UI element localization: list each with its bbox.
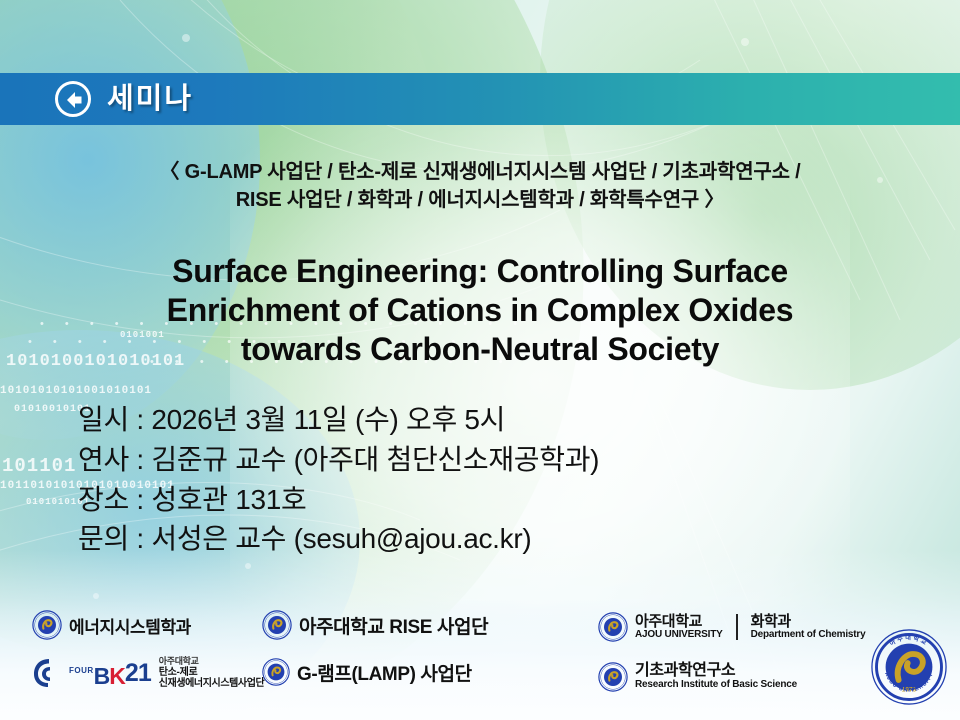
seminar-poster: 1010100101010101101010101010010101010101… — [0, 0, 960, 720]
host-organizations: 〈 G-LAMP 사업단 / 탄소-제로 신재생에너지시스템 사업단 / 기초과… — [0, 158, 960, 215]
logo-energy-system: 에너지시스템학과 — [32, 610, 191, 640]
logo-glamp: G-램프(LAMP) 사업단 — [262, 658, 472, 686]
detail-contact: 문의 : 서성은 교수 (sesuh@ajou.ac.kr) — [78, 519, 599, 559]
host-line-2: RISE 사업단 / 화학과 / 에너지시스템학과 / 화학특수연구 〉 — [0, 186, 960, 214]
bk21-line-1: 아주대학교 — [159, 656, 265, 667]
bk21-four-label: FOUR — [69, 667, 94, 675]
talk-title: Surface Engineering: Controlling Surface… — [28, 252, 932, 369]
bk21-line-2: 탄소-제로 — [159, 667, 265, 679]
seminar-details: 일시 : 2026년 3월 11일 (수) 오후 5시 연사 : 김준규 교수 … — [78, 400, 599, 559]
logo-bk21: FOUR BK 21 아주대학교 탄소-제로 신재생에너지시스템사업단 — [32, 656, 264, 690]
talk-title-line-3: towards Carbon-Neutral Society — [28, 330, 932, 369]
talk-title-line-1: Surface Engineering: Controlling Surface — [28, 252, 932, 291]
ajou-university-seal-icon: 1973 아주대학교 AJOU UNIVERSITY — [870, 628, 948, 706]
sponsor-logo-row: 에너지시스템학과 FOUR BK 21 아주대학교 탄소-제로 — [0, 600, 960, 720]
chem-univ-kr: 아주대학교 — [635, 614, 723, 630]
logo-label-rise: 아주대학교 RISE 사업단 — [299, 612, 488, 639]
logo-label-glamp: G-램프(LAMP) 사업단 — [297, 659, 472, 686]
back-arrow-circle-icon[interactable] — [55, 81, 91, 117]
chem-univ-en: AJOU UNIVERSITY — [635, 630, 723, 641]
talk-title-line-2: Enrichment of Cations in Complex Oxides — [28, 291, 932, 330]
ajou-seal-icon — [32, 610, 62, 640]
ajou-seal-icon — [262, 658, 290, 686]
ajou-seal-icon — [262, 610, 292, 640]
ajou-seal-icon — [598, 662, 628, 692]
host-line-1: 〈 G-LAMP 사업단 / 탄소-제로 신재생에너지시스템 사업단 / 기초과… — [0, 158, 960, 186]
binary-digits: 101101 — [2, 455, 76, 477]
chem-dept-kr: 화학과 — [751, 614, 866, 630]
logo-chemistry-dept: 아주대학교 AJOU UNIVERSITY 화학과 Department of … — [598, 612, 865, 642]
bk21-emblem-icon — [32, 656, 64, 690]
ribs-kr: 기초과학연구소 — [635, 663, 797, 680]
bk21-number: 21 — [125, 659, 151, 688]
logo-label-energy-system: 에너지시스템학과 — [69, 613, 191, 638]
ribs-en: Research Institute of Basic Science — [635, 680, 797, 691]
bk21-b: B — [94, 663, 110, 689]
seminar-banner: 세미나 — [0, 73, 960, 125]
bk21-line-3: 신재생에너지시스템사업단 — [159, 678, 265, 690]
detail-speaker: 연사 : 김준규 교수 (아주대 첨단신소재공학과) — [78, 440, 599, 480]
logo-ajou-seal-large: 1973 아주대학교 AJOU UNIVERSITY — [870, 628, 948, 711]
ajou-seal-icon — [598, 612, 628, 642]
binary-digits: 10101010101001010101 — [0, 385, 152, 397]
bk21-k: K — [109, 663, 125, 689]
chem-dept-en: Department of Chemistry — [751, 630, 866, 641]
detail-venue: 장소 : 성호관 131호 — [78, 480, 599, 520]
logo-basic-science: 기초과학연구소 Research Institute of Basic Scie… — [598, 662, 797, 692]
logo-divider — [736, 614, 738, 640]
logo-rise: 아주대학교 RISE 사업단 — [262, 610, 488, 640]
banner-title: 세미나 — [107, 85, 193, 114]
detail-datetime: 일시 : 2026년 3월 11일 (수) 오후 5시 — [78, 400, 599, 440]
